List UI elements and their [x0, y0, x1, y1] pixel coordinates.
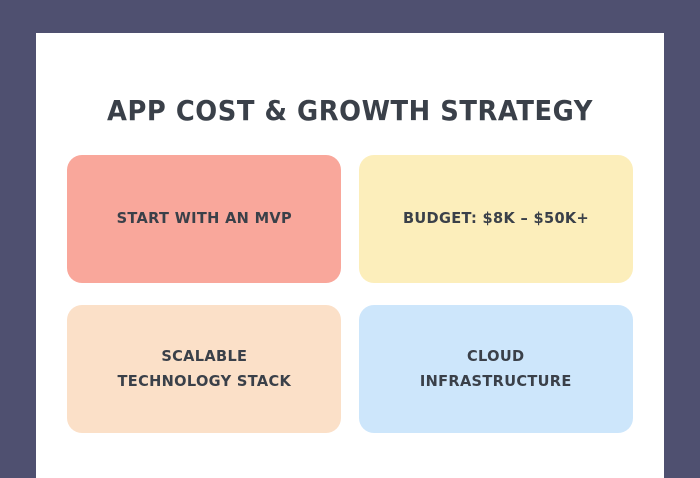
- card-start-with-an-mvp[interactable]: Start with an MVP: [67, 155, 341, 283]
- card-label-line: Start with an MVP: [116, 206, 291, 231]
- card-grid: Start with an MVP Budget: $8K – $50K+ Sc…: [67, 155, 633, 433]
- card-budget-range[interactable]: Budget: $8K – $50K+: [359, 155, 633, 283]
- card-label-line: Budget: $8K – $50K+: [403, 206, 589, 231]
- card-label: Start with an MVP: [116, 206, 291, 231]
- card-scalable-technology-stack[interactable]: Scalable Technology Stack: [67, 305, 341, 433]
- card-label: Scalable Technology Stack: [117, 344, 291, 394]
- card-label-line: Technology Stack: [117, 369, 291, 394]
- card-label-line: Scalable: [117, 344, 291, 369]
- page-title: App Cost & Growth Strategy: [61, 94, 639, 127]
- card-label: Budget: $8K – $50K+: [403, 206, 589, 231]
- card-cloud-infrastructure[interactable]: Cloud Infrastructure: [359, 305, 633, 433]
- slide-panel: App Cost & Growth Strategy Start with an…: [36, 33, 664, 478]
- card-label-line: Cloud: [420, 344, 572, 369]
- card-label: Cloud Infrastructure: [420, 344, 572, 394]
- slide-canvas: App Cost & Growth Strategy Start with an…: [0, 0, 700, 467]
- card-label-line: Infrastructure: [420, 369, 572, 394]
